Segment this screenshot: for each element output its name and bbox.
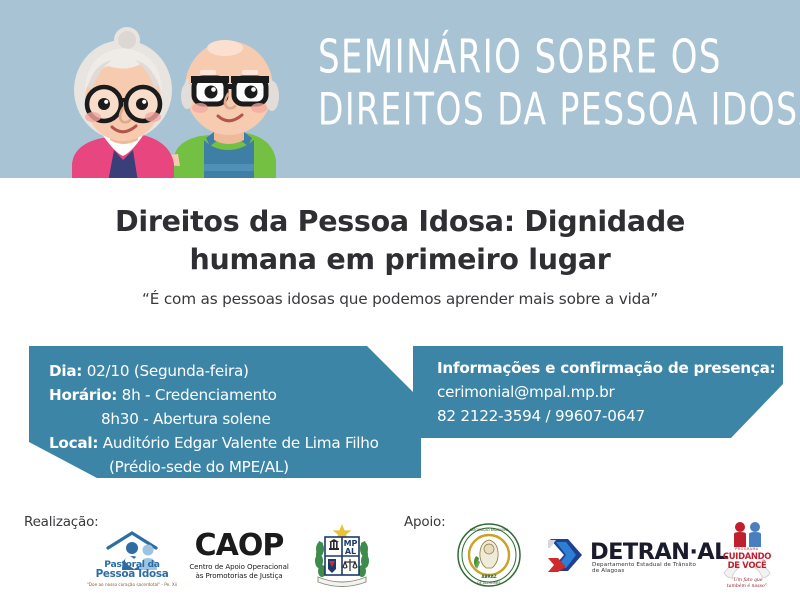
detran-subtitle: Departamento Estadual de Trânsito de Ala… (592, 562, 704, 574)
event-time-row: Horário: 8h - Credenciamento (49, 383, 409, 407)
pastoral-text-3: "Doe ao nosso coração sacerdotal" - Pe. … (86, 582, 178, 587)
pastoral-da-pessoa-idosa-logo: Pastoral da Pessoa Idosa "Doe ao nosso c… (86, 530, 178, 584)
apoio-label: Apoio: (404, 514, 445, 530)
mpal-mark-bottom: AL (345, 547, 356, 556)
event-time-label: Horário: (49, 386, 117, 404)
event-place-label: Local: (49, 434, 98, 452)
cuidando-line-2: DE VOCÊ (716, 560, 778, 570)
event-day-value: 02/10 (Segunda-feira) (87, 362, 249, 380)
subtitle-quote: “É com as pessoas idosas que podemos apr… (60, 290, 740, 308)
elderly-couple-illustration (28, 14, 318, 178)
event-poster: SEMINÁRIO SOBRE OS DIREITOS DA PESSOA ID… (0, 0, 800, 600)
svg-text:ASSOCIAÇÃO BRASILEIRA: ASSOCIAÇÃO BRASILEIRA (469, 527, 509, 532)
caop-sub-2: às Promotorias de Justiça (186, 572, 292, 581)
svg-text:ABRAZ: ABRAZ (481, 574, 496, 579)
event-place-row-2: (Prédio-sede do MPE/AL) (49, 455, 409, 479)
abraz-seal-logo: ASSOCIAÇÃO BRASILEIRA DE ALZHEIMER ABRAZ (452, 522, 526, 588)
mpal-brasao-logo: MP AL (310, 521, 374, 589)
main-title: Direitos da Pessoa Idosa: Dignidade huma… (60, 203, 740, 278)
cuidando-tagline-1: “Um fato que (716, 578, 778, 583)
cuidando-de-voce-logo: PROGRAMA CUIDANDO DE VOCÊ “Um fato que t… (716, 519, 778, 591)
mpal-coat-of-arms-icon: MP AL (310, 521, 374, 589)
svg-text:DE ALZHEIMER: DE ALZHEIMER (477, 581, 501, 585)
contact-phones[interactable]: 82 2122-3594 / 99607-0647 (437, 405, 767, 429)
pastoral-text-2: Pessoa Idosa (86, 568, 178, 580)
event-details-banner: Dia: 02/10 (Segunda-feira) Horário: 8h -… (29, 346, 421, 478)
main-title-line-1: Direitos da Pessoa Idosa: Dignidade (60, 203, 740, 241)
main-title-line-2: humana em primeiro lugar (60, 241, 740, 279)
contact-banner: Informações e confirmação de presença: c… (413, 346, 783, 438)
contact-email[interactable]: cerimonial@mpal.mp.br (437, 381, 767, 405)
event-time-value-2: 8h30 - Abertura solene (101, 410, 271, 428)
event-time-value-2-row: 8h30 - Abertura solene (49, 407, 409, 431)
header-band: SEMINÁRIO SOBRE OS DIREITOS DA PESSOA ID… (0, 0, 800, 178)
header-title-line-2: DIREITOS DA PESSOA IDOSA (318, 86, 774, 134)
cuidando-tagline-2: também é nosso” (716, 584, 778, 589)
abraz-seal-icon: ASSOCIAÇÃO BRASILEIRA DE ALZHEIMER ABRAZ (452, 522, 526, 588)
header-title: SEMINÁRIO SOBRE OS DIREITOS DA PESSOA ID… (318, 34, 788, 137)
event-place-row: Local: Auditório Edgar Valente de Lima F… (49, 431, 409, 455)
caop-acronym: CAOP (186, 531, 292, 561)
header-title-line-1: SEMINÁRIO SOBRE OS (318, 34, 774, 84)
event-time-value-1: 8h - Credenciamento (122, 386, 277, 404)
event-place-value: Auditório Edgar Valente de Lima Filho (103, 434, 379, 452)
event-day-row: Dia: 02/10 (Segunda-feira) (49, 359, 409, 383)
detran-arrow-icon (546, 536, 588, 574)
realizacao-label: Realização: (24, 514, 99, 530)
event-place-value-2: (Prédio-sede do MPE/AL) (109, 458, 289, 476)
detran-al-logo: DETRAN·AL Departamento Estadual de Trâns… (546, 536, 704, 576)
caop-logo: CAOP Centro de Apoio Operacional às Prom… (186, 531, 292, 581)
contact-heading: Informações e confirmação de presença: (437, 357, 767, 381)
event-day-label: Dia: (49, 362, 82, 380)
